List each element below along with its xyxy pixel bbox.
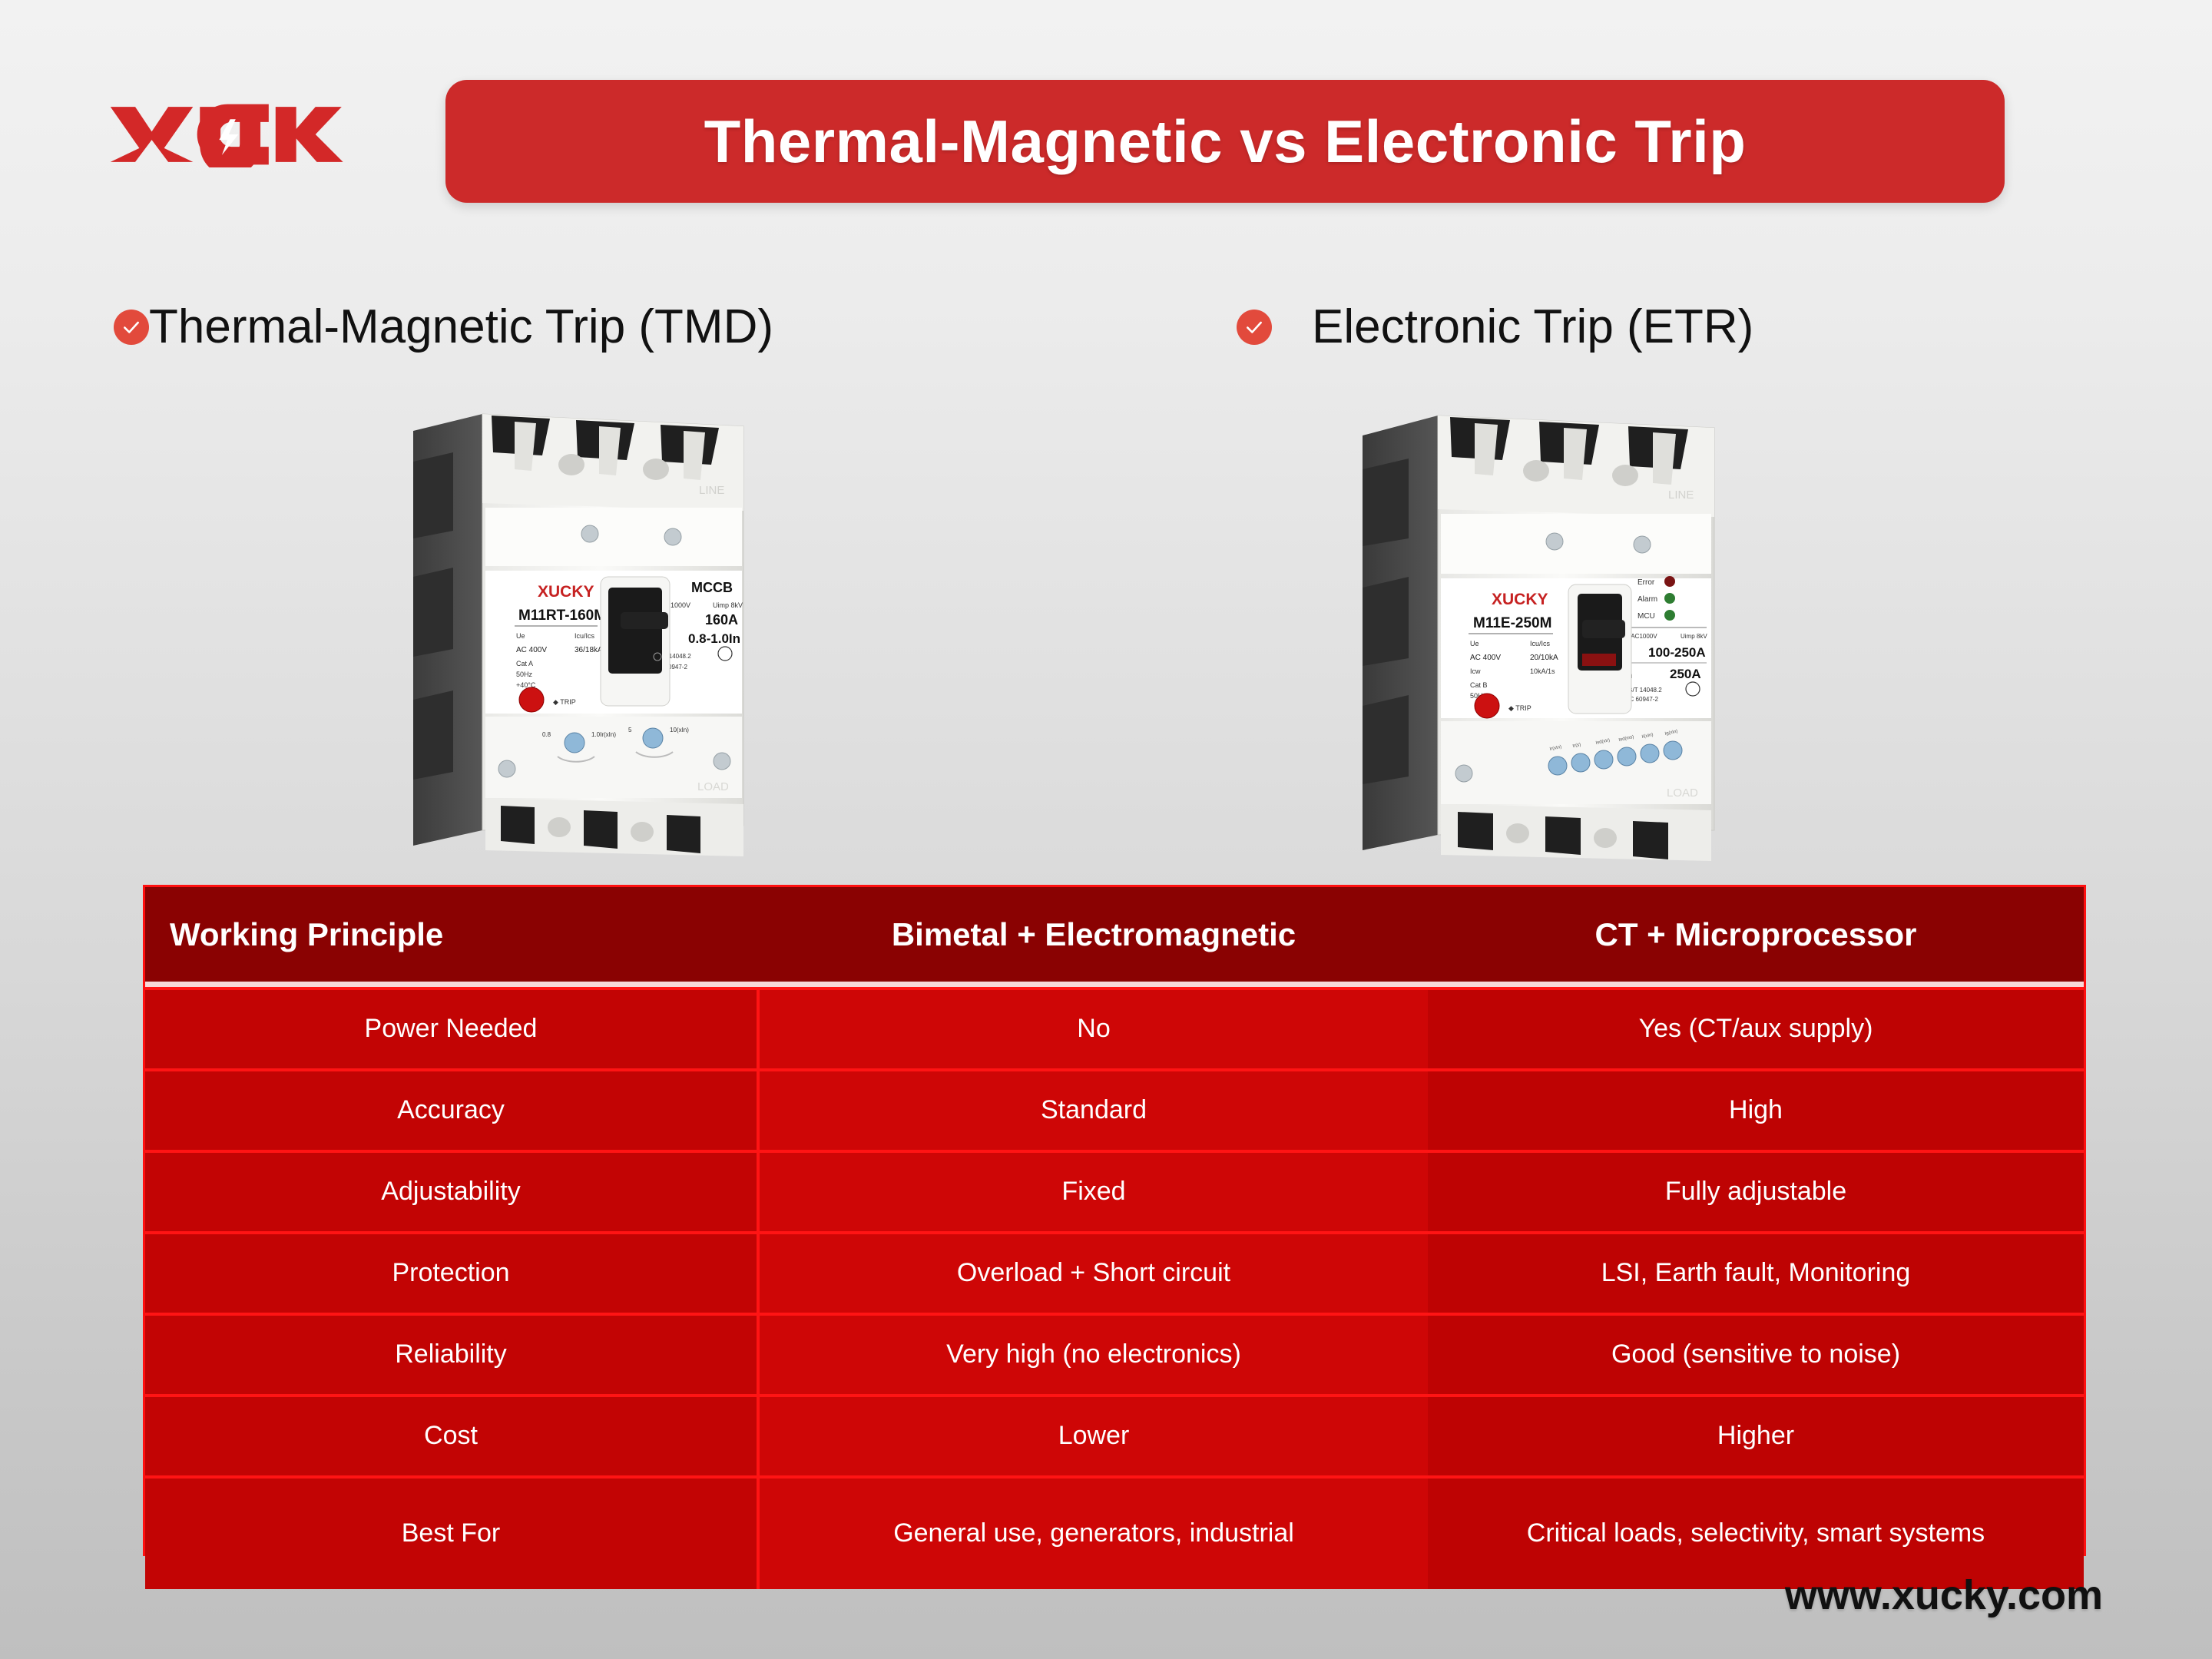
svg-text:36/18kA: 36/18kA [575, 646, 603, 654]
row-label: Accuracy [145, 1071, 760, 1150]
svg-text:Icw: Icw [1470, 667, 1481, 675]
row-value-etr: LSI, Earth fault, Monitoring [1428, 1234, 2084, 1313]
table-row: Accuracy Standard High [145, 1068, 2084, 1150]
check-circle-icon [1237, 310, 1272, 345]
row-value-etr: High [1428, 1071, 2084, 1150]
led-label-error: Error [1637, 578, 1655, 587]
error-led-icon [1664, 576, 1675, 587]
svg-text:160A: 160A [705, 612, 738, 628]
section-label-tmd: Thermal-Magnetic Trip (TMD) [149, 300, 773, 354]
svg-text:0.8-1.0In: 0.8-1.0In [688, 631, 740, 646]
svg-text:100-250A: 100-250A [1648, 645, 1706, 660]
row-label: Reliability [145, 1316, 760, 1394]
row-value-tmd: General use, generators, industrial [760, 1479, 1428, 1589]
check-circle-icon [114, 310, 149, 345]
row-value-tmd: Fixed [760, 1153, 1428, 1231]
svg-text:Icu/Ics: Icu/Ics [1530, 640, 1551, 647]
table-row: Reliability Very high (no electronics) G… [145, 1313, 2084, 1394]
svg-text:5: 5 [628, 727, 632, 733]
load-marking: LOAD [697, 780, 729, 793]
svg-text:1.0Ir(xIn): 1.0Ir(xIn) [591, 731, 616, 738]
table-row: Cost Lower Higher [145, 1394, 2084, 1475]
svg-text:Uimp 8kV: Uimp 8kV [713, 601, 743, 609]
row-label: Best For [145, 1479, 760, 1589]
section-heading-tmd: Thermal-Magnetic Trip (TMD) [114, 300, 773, 354]
comparison-table: Working Principle Bimetal + Electromagne… [143, 885, 2086, 1556]
title-banner: Thermal-Magnetic vs Electronic Trip [445, 80, 2005, 203]
svg-text:10kA/1s: 10kA/1s [1530, 667, 1555, 675]
table-row: Power Needed No Yes (CT/aux supply) [145, 987, 2084, 1068]
row-label: Protection [145, 1234, 760, 1313]
row-value-tmd: Overload + Short circuit [760, 1234, 1428, 1313]
brand-logo: XUCKY [109, 101, 343, 167]
svg-text:20/10kA: 20/10kA [1530, 654, 1558, 662]
load-marking: LOAD [1667, 786, 1698, 800]
page-title: Thermal-Magnetic vs Electronic Trip [704, 107, 1747, 177]
trip-label: ◆ TRIP [1508, 704, 1532, 712]
line-marking: LINE [1668, 488, 1694, 502]
svg-text:Icu/Ics: Icu/Ics [575, 632, 595, 640]
row-value-etr: Higher [1428, 1397, 2084, 1475]
svg-text:AC 400V: AC 400V [1470, 654, 1501, 662]
row-value-tmd: Very high (no electronics) [760, 1316, 1428, 1394]
table-header-cell-0: Working Principle [145, 887, 760, 982]
trip-label: ◆ TRIP [553, 698, 576, 706]
row-value-etr: Fully adjustable [1428, 1153, 2084, 1231]
row-value-tmd: No [760, 990, 1428, 1068]
table-header-cell-1: Bimetal + Electromagnetic [760, 887, 1428, 982]
mccb-type-label: MCCB [691, 580, 733, 595]
led-label-alarm: Alarm [1637, 595, 1657, 604]
footer-website-url: www.xucky.com [1785, 1571, 2103, 1619]
table-header-row: Working Principle Bimetal + Electromagne… [145, 887, 2084, 987]
table-row: Protection Overload + Short circuit LSI,… [145, 1231, 2084, 1313]
row-value-tmd: Standard [760, 1071, 1428, 1150]
brand-label: XUCKY [1492, 591, 1548, 608]
table-row: Adjustability Fixed Fully adjustable [145, 1150, 2084, 1231]
svg-text:10(xIn): 10(xIn) [670, 727, 689, 733]
alarm-led-icon [1664, 593, 1675, 604]
table-header-cell-2: CT + Microprocessor [1428, 887, 2084, 982]
row-label: Adjustability [145, 1153, 760, 1231]
svg-text:Ue: Ue [1470, 640, 1479, 647]
product-image-mccb-electronic: LINE XUCKY M11E-250M Ue Icu/Ics AC 400V … [1352, 396, 1728, 879]
svg-text:0.8: 0.8 [542, 731, 551, 738]
svg-text:50Hz: 50Hz [516, 671, 533, 678]
svg-text:Cat A: Cat A [516, 660, 533, 667]
row-value-etr: Good (sensitive to noise) [1428, 1316, 2084, 1394]
section-label-etr: Electronic Trip (ETR) [1312, 300, 1753, 354]
svg-text:Ue: Ue [516, 632, 525, 640]
product-image-mccb-thermal-magnetic: LINE XUCKY M11RT-160M Ue Icu/Ics AC 400V… [399, 396, 760, 879]
row-value-tmd: Lower [760, 1397, 1428, 1475]
svg-text:AC 400V: AC 400V [516, 646, 547, 654]
row-value-etr: Yes (CT/aux supply) [1428, 990, 2084, 1068]
svg-text:Uimp 8kV: Uimp 8kV [1681, 633, 1707, 640]
led-label-mcu: MCU [1637, 612, 1655, 621]
model-label: M11E-250M [1473, 615, 1551, 631]
svg-text:Cat B: Cat B [1470, 681, 1488, 689]
row-label: Power Needed [145, 990, 760, 1068]
line-marking: LINE [699, 484, 724, 497]
page-header: XUCKY Thermal-Magnetic vs Electronic Tri… [0, 0, 2212, 230]
brand-label: XUCKY [538, 583, 594, 601]
xucky-logo-icon [109, 101, 343, 167]
row-label: Cost [145, 1397, 760, 1475]
section-heading-etr: Electronic Trip (ETR) [1237, 300, 1753, 354]
mcu-led-icon [1664, 610, 1675, 621]
svg-text:250A: 250A [1670, 667, 1701, 681]
model-label: M11RT-160M [518, 608, 606, 624]
